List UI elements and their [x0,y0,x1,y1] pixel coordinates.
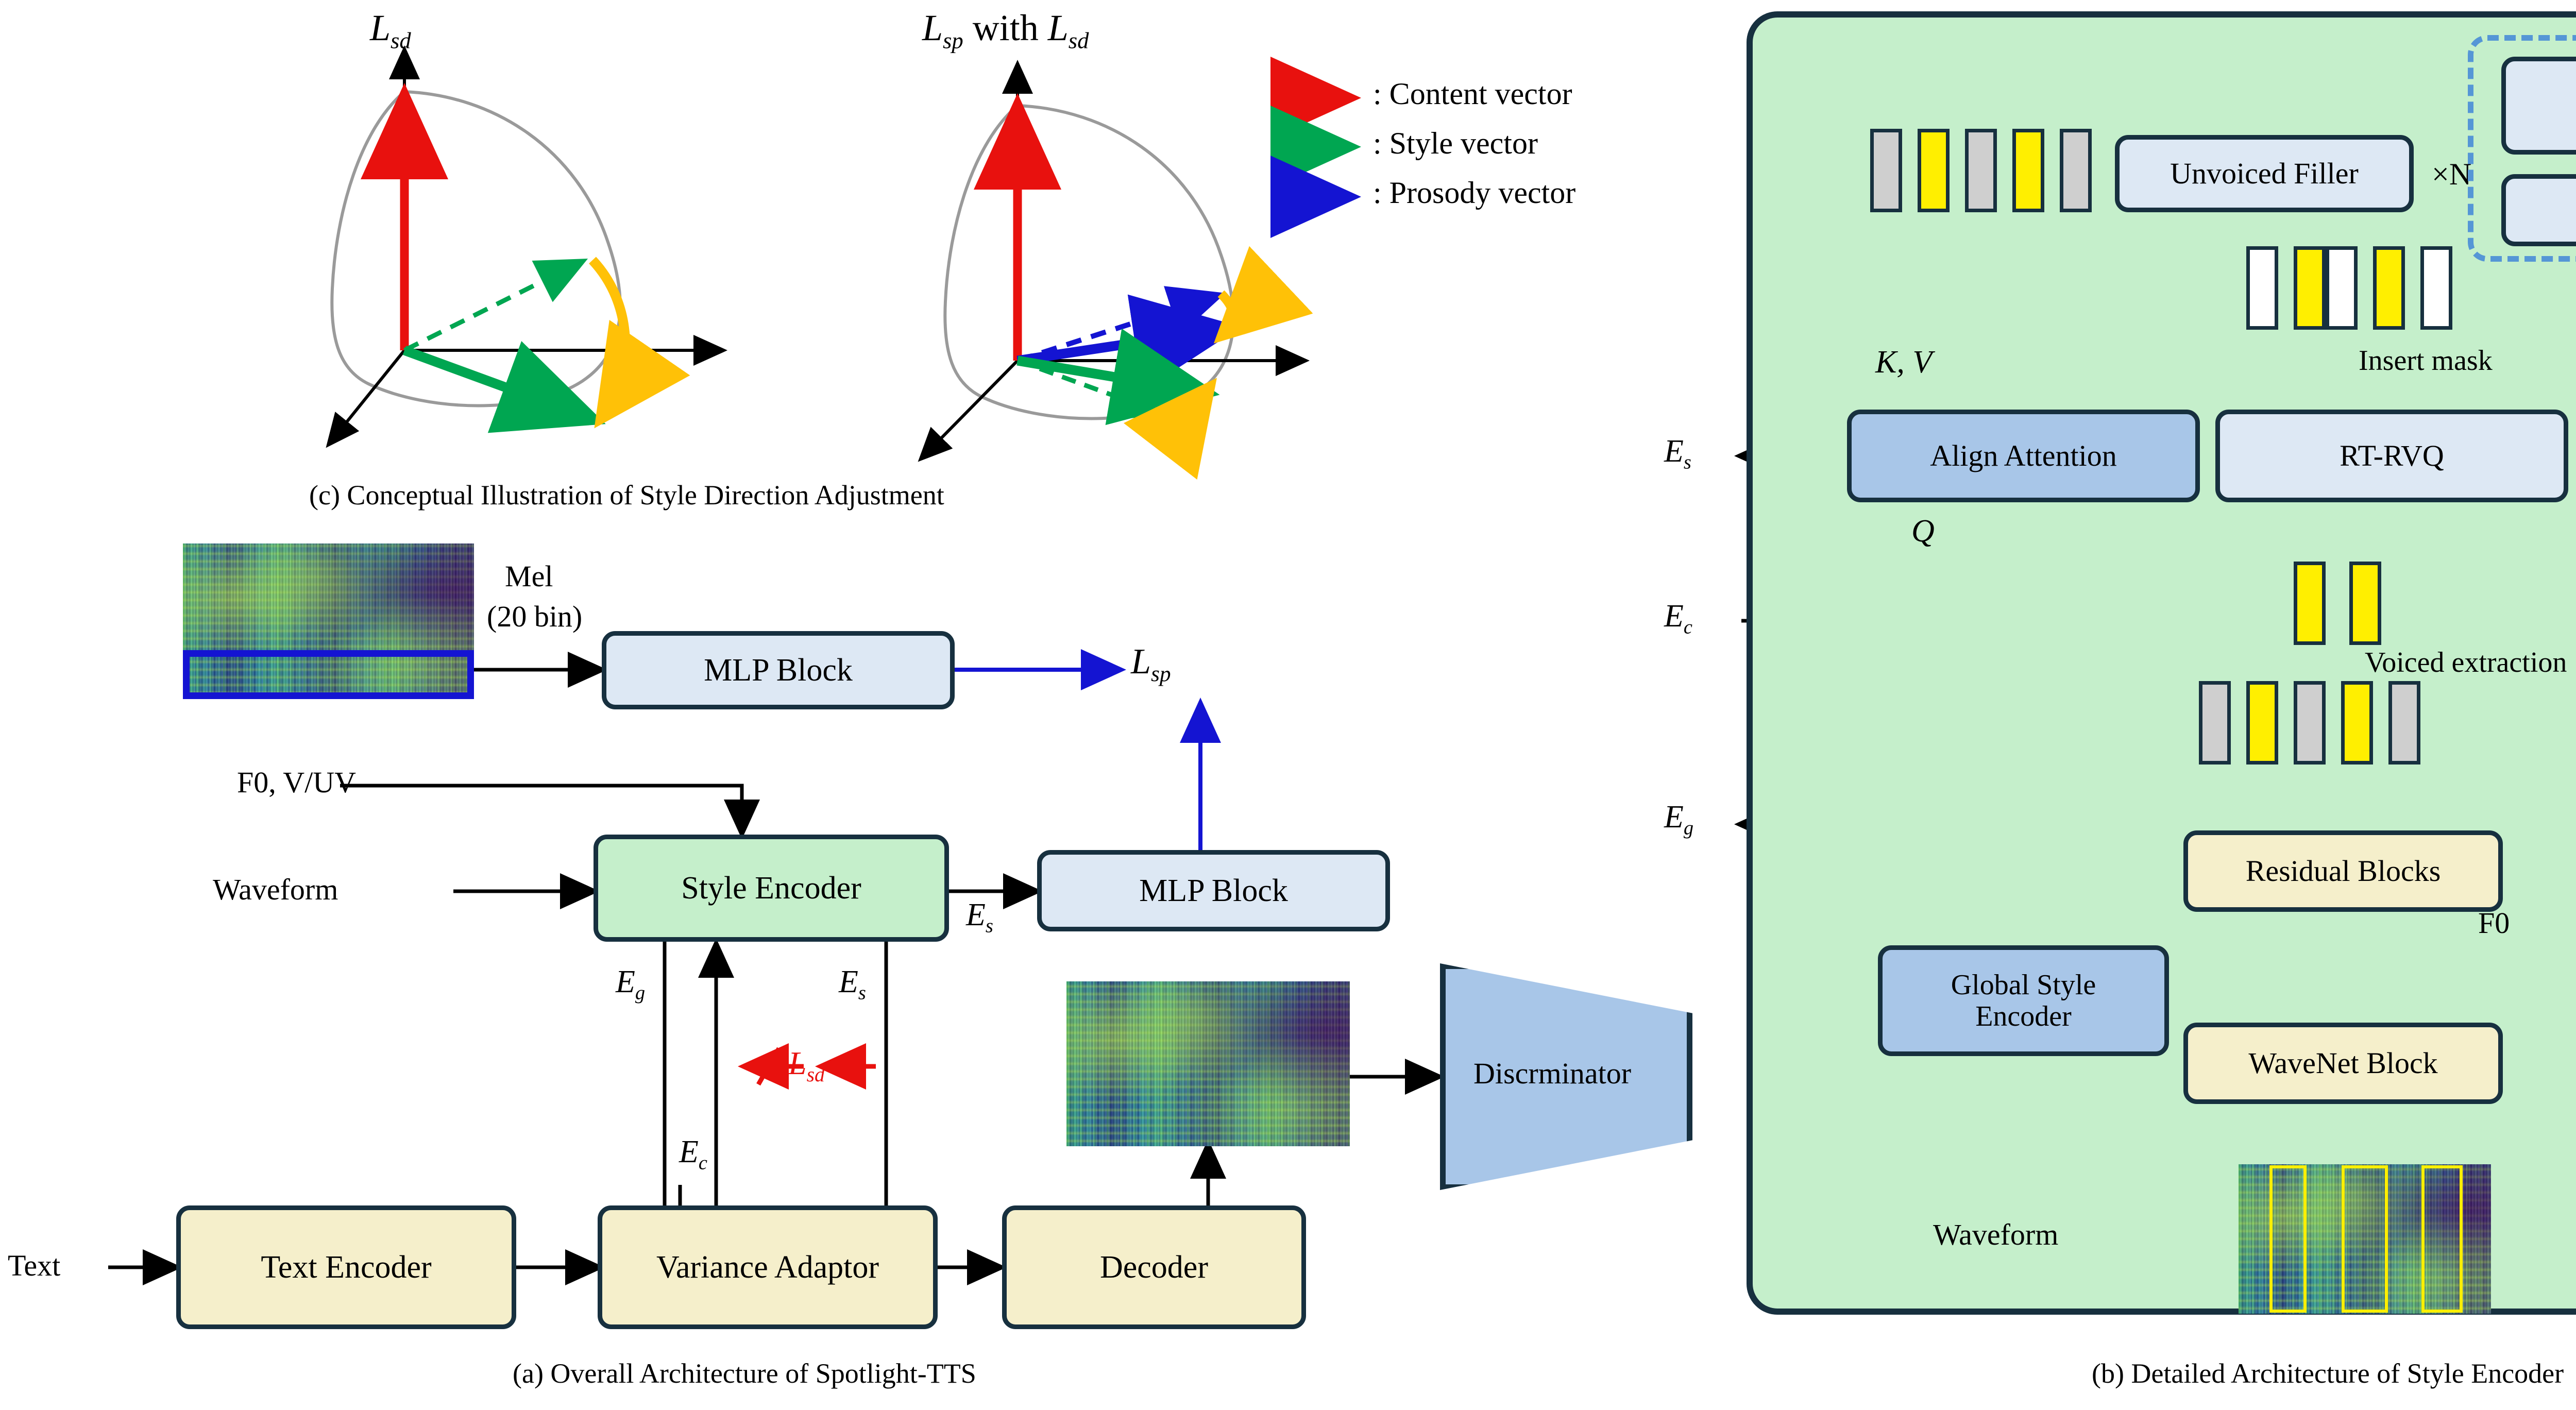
mlp-block-style-label: MLP Block [1139,874,1288,908]
rt-rvq[interactable]: RT-RVQ [2215,410,2568,502]
spectrogram-voiced-box-2 [2342,1165,2388,1313]
unvoiced-filler-label: Unvoiced Filler [2170,158,2359,190]
mel-label-line2: (20 bin) [487,602,582,632]
loss-lsp-label: Lsp [1131,644,1171,686]
panel-c-right-plot-title: Lsp with Lsd [922,9,1089,52]
eg-down-label: Eg [616,966,645,1003]
legend-item-style-vector: : Style vector [1373,128,1538,159]
biased-self-attention[interactable]: Biased Self-Attention [2501,57,2576,155]
q-label: Q [1911,515,1935,547]
style-encoder-label: Style Encoder [681,871,861,906]
text-encoder-label: Text Encoder [261,1250,431,1285]
f0-label-b: F0 [2478,908,2510,938]
text-input-label: Text [8,1251,60,1281]
unvoiced-filler[interactable]: Unvoiced Filler [2115,135,2414,212]
token-input-4 [2341,681,2373,765]
decoder-label: Decoder [1100,1250,1208,1285]
token-top-1 [1870,129,1902,212]
es-down-label: Es [839,966,866,1003]
token-mask-1 [2246,246,2278,330]
repeat-n-label: ×N [2432,159,2471,190]
token-top-3 [1965,129,1997,212]
es-output-label: Es [966,899,993,936]
panel-c-legend-arrows [1288,98,1345,197]
mlp-block-top-label: MLP Block [704,653,853,688]
spectrogram-voiced-box-3 [2421,1165,2463,1313]
f0-vuv-input-label: F0, V/UV [237,768,356,797]
loss-lsd-label: Lsd [788,1047,825,1085]
mel-label-line1: Mel [505,562,553,591]
token-input-5 [2388,681,2420,765]
convnext-block[interactable]: ConvNeXt Block [2501,174,2576,246]
wavenet-block-label: WaveNet Block [2248,1047,2437,1080]
spectrogram-voiced-box-1 [2269,1165,2307,1313]
panel-c-caption: (c) Conceptual Illustration of Style Dir… [309,479,944,511]
mlp-block-top[interactable]: MLP Block [602,631,955,709]
token-input-2 [2246,681,2278,765]
panel-a-connectors [108,670,1437,1267]
token-top-2 [1918,129,1950,212]
panel-c-right-plot [922,66,1303,457]
wavenet-block[interactable]: WaveNet Block [2183,1023,2503,1104]
global-style-encoder[interactable]: Global Style Encoder [1878,945,2169,1056]
waveform-input-label-a: Waveform [213,875,338,905]
discriminator-label: Discrminator [1473,1059,1631,1089]
global-style-encoder-label-line1: Global Style [1951,970,2096,1000]
style-encoder[interactable]: Style Encoder [594,835,949,942]
token-mask-5 [2420,246,2452,330]
ec-label-b: Ec [1664,600,1692,637]
token-voiced-2 [2349,562,2381,645]
mlp-block-style[interactable]: MLP Block [1037,850,1390,931]
align-attention-label: Align Attention [1930,440,2117,472]
rt-rvq-label: RT-RVQ [2340,440,2444,472]
voiced-extraction-label: Voiced extraction [2365,648,2567,677]
token-voiced-1 [2294,562,2326,645]
legend-item-prosody-vector: : Prosody vector [1373,177,1575,208]
token-mask-4 [2373,246,2405,330]
residual-blocks[interactable]: Residual Blocks [2183,830,2503,912]
decoder[interactable]: Decoder [1002,1205,1306,1329]
legend-item-content-vector: : Content vector [1373,78,1572,109]
panel-c-left-plot [330,52,721,443]
predicted-mel-spectrogram [1066,981,1350,1146]
es-label-b: Es [1664,435,1691,472]
insert-mask-label: Insert mask [2359,346,2493,375]
panel-b-caption: (b) Detailed Architecture of Style Encod… [2092,1357,2564,1389]
token-top-5 [2060,129,2092,212]
align-attention[interactable]: Align Attention [1847,410,2200,502]
waveform-input-label-b: Waveform [1933,1220,2058,1250]
kv-label: K, V [1875,346,1932,378]
ec-label-a: Ec [679,1136,707,1173]
token-top-4 [2012,129,2044,212]
mel-20bin-highlight-box [183,650,474,699]
token-mask-3 [2326,246,2358,330]
text-encoder[interactable]: Text Encoder [176,1205,516,1329]
token-mask-2 [2294,246,2326,330]
token-input-1 [2199,681,2231,765]
token-input-3 [2294,681,2326,765]
variance-adaptor[interactable]: Variance Adaptor [598,1205,938,1329]
variance-adaptor-label: Variance Adaptor [656,1250,879,1285]
global-style-encoder-label-line2: Encoder [1975,1001,2072,1032]
panel-c-left-plot-title: Lsd [370,9,411,52]
eg-label-b: Eg [1664,801,1693,838]
panel-a-caption: (a) Overall Architecture of Spotlight-TT… [513,1357,976,1389]
residual-blocks-label: Residual Blocks [2246,855,2441,888]
